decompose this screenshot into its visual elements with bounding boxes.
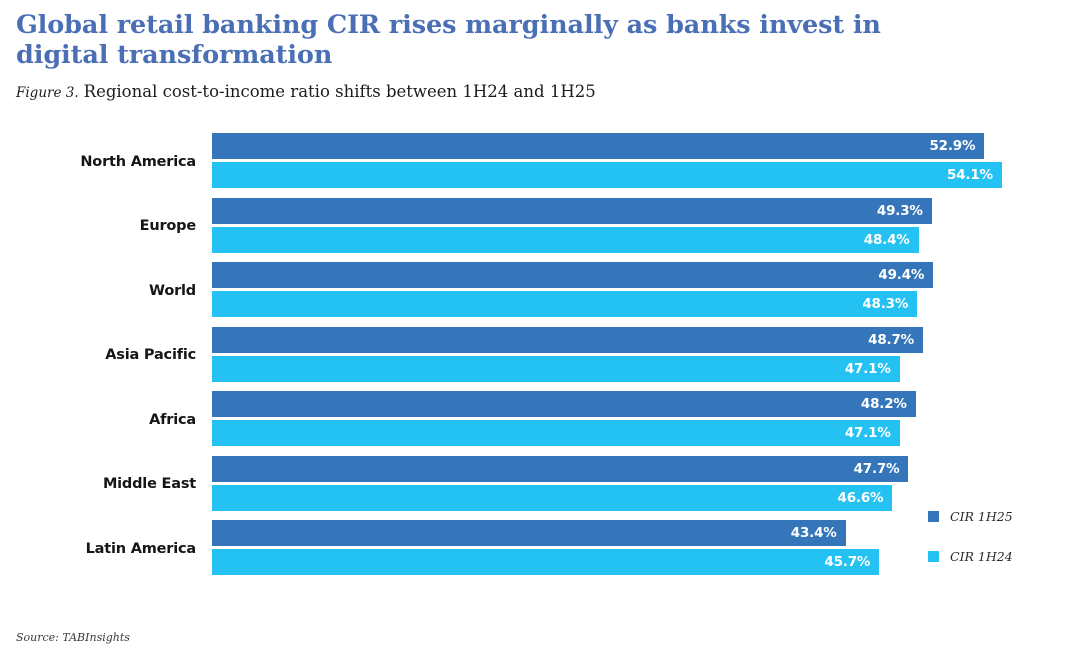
category-label: Asia Pacific — [0, 327, 196, 384]
page-title: Global retail banking CIR rises marginal… — [16, 10, 1016, 70]
chart-subtitle: Regional cost-to-income ratio shifts bet… — [84, 82, 596, 101]
bar-cir-1h25[interactable]: 52.9% — [212, 133, 984, 159]
bar-value-label: 49.3% — [877, 203, 923, 219]
bar-value-label: 49.4% — [878, 267, 924, 283]
legend-item[interactable]: CIR 1H24 — [928, 548, 1013, 564]
bar-track: 48.2%47.1% — [212, 391, 1080, 448]
bar-value-label: 48.3% — [862, 296, 908, 312]
bar-track: 49.3%48.4% — [212, 198, 1080, 255]
bar-cir-1h25[interactable]: 48.2% — [212, 391, 916, 417]
bar-value-label: 47.1% — [845, 425, 891, 441]
bar-cir-1h25[interactable]: 48.7% — [212, 327, 923, 353]
chart-legend: CIR 1H25CIR 1H24 — [928, 508, 1013, 588]
legend-label: CIR 1H24 — [950, 549, 1013, 564]
figure-number: Figure 3. — [16, 85, 79, 101]
bar-group: Middle East47.7%46.6% — [0, 456, 1080, 513]
legend-label: CIR 1H25 — [950, 509, 1013, 524]
bar-value-label: 48.4% — [864, 232, 910, 248]
bar-cir-1h24[interactable]: 47.1% — [212, 420, 900, 446]
bar-group: Africa48.2%47.1% — [0, 391, 1080, 448]
bar-track: 48.7%47.1% — [212, 327, 1080, 384]
bar-value-label: 48.2% — [861, 396, 907, 412]
chart-plot-area: North America52.9%54.1%Europe49.3%48.4%W… — [0, 133, 1080, 598]
bar-cir-1h25[interactable]: 47.7% — [212, 456, 908, 482]
bar-group: Asia Pacific48.7%47.1% — [0, 327, 1080, 384]
category-label: Latin America — [0, 520, 196, 577]
bar-group: World49.4%48.3% — [0, 262, 1080, 319]
bar-group: Europe49.3%48.4% — [0, 198, 1080, 255]
bar-value-label: 48.7% — [868, 332, 914, 348]
category-label: Middle East — [0, 456, 196, 513]
bar-group: North America52.9%54.1% — [0, 133, 1080, 190]
bar-value-label: 47.1% — [845, 361, 891, 377]
subtitle-row: Figure 3. Regional cost-to-income ratio … — [16, 82, 1016, 101]
category-label: North America — [0, 133, 196, 190]
bar-track: 47.7%46.6% — [212, 456, 1080, 513]
legend-swatch-icon — [928, 551, 939, 562]
bar-track: 49.4%48.3% — [212, 262, 1080, 319]
bar-value-label: 47.7% — [854, 461, 900, 477]
chart-header: Global retail banking CIR rises marginal… — [16, 10, 1016, 101]
bar-cir-1h25[interactable]: 43.4% — [212, 520, 846, 546]
bar-cir-1h24[interactable]: 45.7% — [212, 549, 879, 575]
bar-cir-1h25[interactable]: 49.3% — [212, 198, 932, 224]
bar-cir-1h24[interactable]: 54.1% — [212, 162, 1002, 188]
bar-value-label: 43.4% — [791, 525, 837, 541]
bar-track: 52.9%54.1% — [212, 133, 1080, 190]
bar-value-label: 54.1% — [947, 167, 993, 183]
bar-cir-1h24[interactable]: 46.6% — [212, 485, 892, 511]
bar-cir-1h24[interactable]: 48.4% — [212, 227, 919, 253]
bar-cir-1h24[interactable]: 48.3% — [212, 291, 917, 317]
bar-value-label: 46.6% — [838, 490, 884, 506]
category-label: World — [0, 262, 196, 319]
bar-value-label: 45.7% — [824, 554, 870, 570]
bar-cir-1h24[interactable]: 47.1% — [212, 356, 900, 382]
source-note: Source: TABInsights — [16, 631, 130, 644]
bar-value-label: 52.9% — [929, 138, 975, 154]
legend-swatch-icon — [928, 511, 939, 522]
bar-cir-1h25[interactable]: 49.4% — [212, 262, 933, 288]
category-label: Europe — [0, 198, 196, 255]
bar-group: Latin America43.4%45.7% — [0, 520, 1080, 577]
category-label: Africa — [0, 391, 196, 448]
legend-item[interactable]: CIR 1H25 — [928, 508, 1013, 524]
